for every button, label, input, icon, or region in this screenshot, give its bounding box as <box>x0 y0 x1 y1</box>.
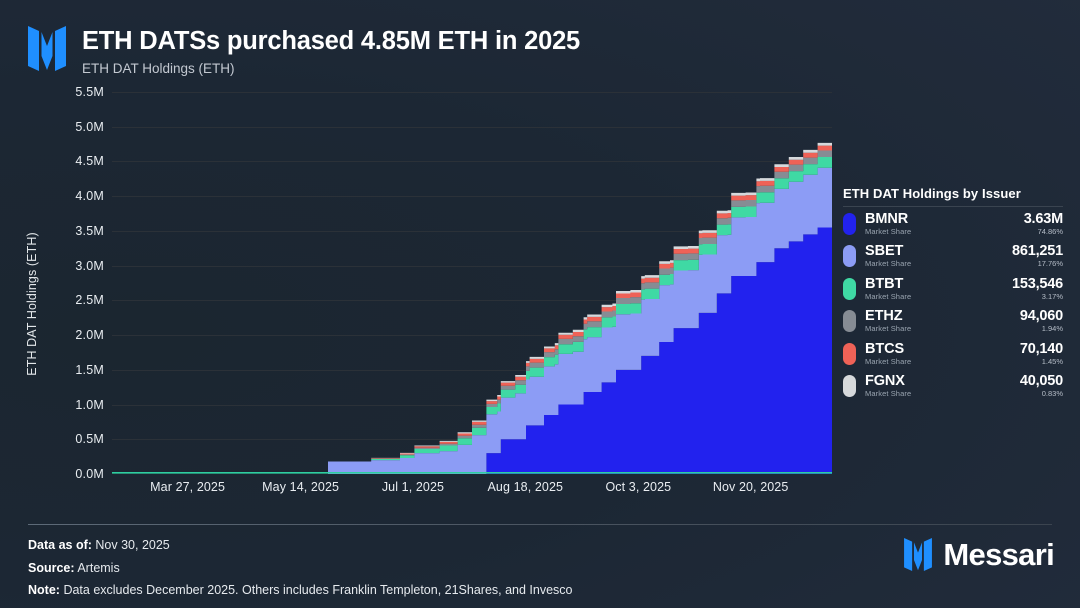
chart-card: ETH DATSs purchased 4.85M ETH in 2025 ET… <box>0 0 1080 608</box>
x-axis-tick-label: Oct 3, 2025 <box>605 480 671 494</box>
messari-logo-icon <box>904 538 932 571</box>
legend-percent: 17.76% <box>1012 259 1063 269</box>
y-axis-tick-label: 4.5M <box>46 154 104 168</box>
legend-market-share-label: Market Share <box>865 259 1012 269</box>
page-subtitle: ETH DAT Holdings (ETH) <box>82 61 580 77</box>
y-axis-tick-label: 5.0M <box>46 120 104 134</box>
footer-brand: Messari <box>904 538 1054 571</box>
legend-item-btbt[interactable]: BTBTMarket Share153,5463.17% <box>843 273 1063 305</box>
legend-ticker: SBET <box>865 243 1012 259</box>
legend-ticker: FGNX <box>865 373 1020 389</box>
chart-footer: Data as of: Nov 30, 2025 Source: Artemis… <box>28 534 573 602</box>
y-axis-tick-label: 0.5M <box>46 432 104 446</box>
legend-percent: 0.83% <box>1020 389 1063 399</box>
brand-wordmark: Messari <box>943 538 1054 571</box>
legend-swatch-icon <box>843 213 856 235</box>
legend-market-share-label: Market Share <box>865 324 1020 334</box>
y-axis-tick-label: 2.0M <box>46 328 104 342</box>
x-axis-tick-label: Aug 18, 2025 <box>487 480 563 494</box>
legend-percent: 1.94% <box>1020 324 1063 334</box>
footer-note-label: Note: <box>28 583 60 597</box>
legend-market-share-label: Market Share <box>865 227 1024 237</box>
legend-percent: 74.86% <box>1024 227 1063 237</box>
legend-ticker: BMNR <box>865 211 1024 227</box>
legend-value: 70,140 <box>1020 341 1063 357</box>
legend-swatch-icon <box>843 375 856 397</box>
chart-header: ETH DATSs purchased 4.85M ETH in 2025 ET… <box>28 26 580 77</box>
y-axis-tick-label: 0.0M <box>46 467 104 481</box>
legend-item-sbet[interactable]: SBETMarket Share861,25117.76% <box>843 241 1063 273</box>
legend-title: ETH DAT Holdings by Issuer <box>843 186 1063 207</box>
y-axis-label: ETH DAT Holdings (ETH) <box>25 154 39 454</box>
legend-swatch-icon <box>843 343 856 365</box>
legend-percent: 1.45% <box>1020 357 1063 367</box>
legend-value: 3.63M <box>1024 211 1063 227</box>
legend-item-fgnx[interactable]: FGNXMarket Share40,0500.83% <box>843 371 1063 403</box>
footer-data-as-of-label: Data as of: <box>28 538 92 552</box>
legend-swatch-icon <box>843 278 856 300</box>
messari-logo-icon <box>28 26 66 71</box>
stacked-area-chart[interactable] <box>112 92 832 474</box>
y-axis-tick-label: 2.5M <box>46 293 104 307</box>
legend-swatch-icon <box>843 245 856 267</box>
legend-item-bmnr[interactable]: BMNRMarket Share3.63M74.86% <box>843 208 1063 240</box>
legend-swatch-icon <box>843 310 856 332</box>
x-axis-tick-label: May 14, 2025 <box>262 480 339 494</box>
footer-source-value: Artemis <box>77 561 119 575</box>
legend-item-btcs[interactable]: BTCSMarket Share70,1401.45% <box>843 338 1063 370</box>
y-axis-tick-label: 1.5M <box>46 363 104 377</box>
legend-ticker: BTBT <box>865 276 1012 292</box>
x-axis-tick-label: Nov 20, 2025 <box>713 480 789 494</box>
y-axis-tick-label: 5.5M <box>46 85 104 99</box>
x-axis-tick-label: Jul 1, 2025 <box>382 480 444 494</box>
footer-note: Note: Data excludes December 2025. Other… <box>28 579 573 602</box>
y-axis-tick-label: 4.0M <box>46 189 104 203</box>
footer-source: Source: Artemis <box>28 557 573 580</box>
y-axis-tick-label: 3.5M <box>46 224 104 238</box>
legend-value: 40,050 <box>1020 373 1063 389</box>
chart-legend: ETH DAT Holdings by Issuer BMNRMarket Sh… <box>843 186 1063 402</box>
footer-note-value: Data excludes December 2025. Others incl… <box>63 583 572 597</box>
legend-market-share-label: Market Share <box>865 292 1012 302</box>
legend-market-share-label: Market Share <box>865 357 1020 367</box>
y-axis-tick-label: 3.0M <box>46 259 104 273</box>
legend-ticker: BTCS <box>865 341 1020 357</box>
footer-data-as-of: Data as of: Nov 30, 2025 <box>28 534 573 557</box>
y-axis-tick-label: 1.0M <box>46 398 104 412</box>
legend-ticker: ETHZ <box>865 308 1020 324</box>
legend-market-share-label: Market Share <box>865 389 1020 399</box>
legend-value: 861,251 <box>1012 243 1063 259</box>
legend-value: 153,546 <box>1012 276 1063 292</box>
y-axis-ticks: 0.0M0.5M1.0M1.5M2.0M2.5M3.0M3.5M4.0M4.5M… <box>46 92 104 474</box>
legend-value: 94,060 <box>1020 308 1063 324</box>
page-title: ETH DATSs purchased 4.85M ETH in 2025 <box>82 26 580 56</box>
footer-source-label: Source: <box>28 561 75 575</box>
footer-divider <box>28 524 1052 525</box>
legend-item-ethz[interactable]: ETHZMarket Share94,0601.94% <box>843 306 1063 338</box>
legend-percent: 3.17% <box>1012 292 1063 302</box>
footer-data-as-of-value: Nov 30, 2025 <box>95 538 169 552</box>
x-axis-tick-label: Mar 27, 2025 <box>150 480 225 494</box>
